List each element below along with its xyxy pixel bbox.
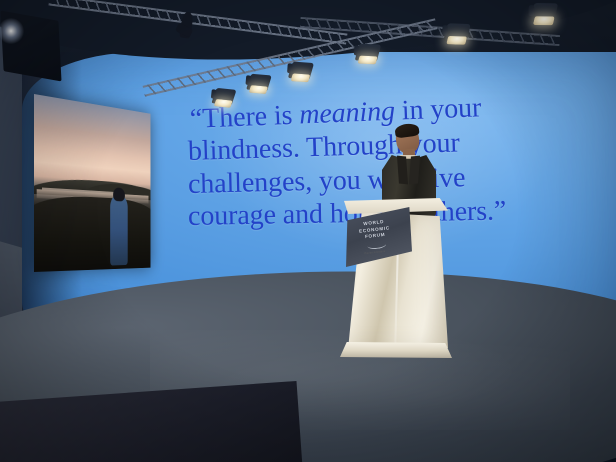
podium: WORLD ECONOMIC FORUM Davos-Klosters	[338, 198, 454, 364]
podium-base	[340, 342, 452, 358]
spotlight-icon	[445, 23, 469, 42]
wef-logo: WORLD ECONOMIC FORUM	[350, 217, 401, 251]
spotlight-icon	[290, 61, 313, 79]
spotlight-icon	[248, 74, 270, 92]
photo-panel	[34, 94, 151, 272]
spotlight-icon	[532, 3, 557, 22]
spotlight-icon	[213, 88, 235, 106]
stage-scene: “There is meaning in your blindness. Thr…	[0, 0, 616, 462]
photo-foreground	[34, 193, 151, 272]
spotlight-icon	[357, 43, 380, 61]
photo-person-head	[113, 187, 125, 201]
photo-sky	[34, 94, 151, 272]
speaker-lapel-left	[397, 156, 408, 185]
photo-person	[110, 195, 128, 266]
